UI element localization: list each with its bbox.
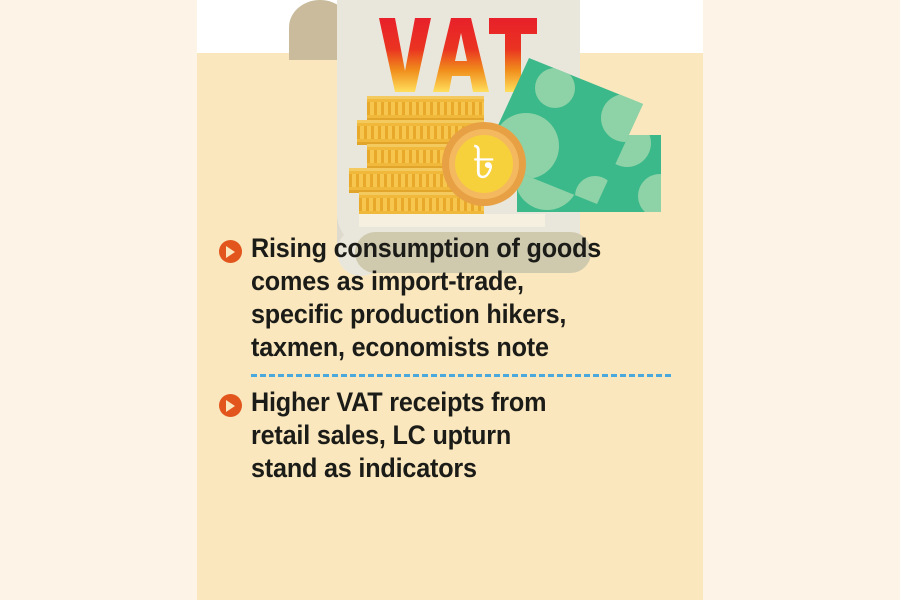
list-item: Rising consumption of goods comes as imp… bbox=[197, 232, 703, 364]
taka-symbol: ৳ bbox=[473, 139, 496, 185]
section-divider bbox=[251, 374, 671, 377]
chevron-right-circle-icon bbox=[219, 394, 242, 417]
infographic-canvas: ৳ Rising consumption of goods comes as i… bbox=[0, 0, 900, 600]
center-column: ৳ Rising consumption of goods comes as i… bbox=[197, 0, 703, 600]
taka-coin-icon: ৳ bbox=[442, 122, 526, 206]
chevron-right-circle-icon bbox=[219, 240, 242, 263]
scroll-text-line bbox=[359, 214, 545, 227]
bullet-list: Rising consumption of goods comes as imp… bbox=[197, 232, 703, 485]
bullet-text: Higher VAT receipts from retail sales, L… bbox=[251, 386, 546, 485]
bullet-text: Rising consumption of goods comes as imp… bbox=[251, 232, 601, 364]
coin-face: ৳ bbox=[455, 135, 513, 193]
list-item: Higher VAT receipts from retail sales, L… bbox=[197, 386, 703, 485]
